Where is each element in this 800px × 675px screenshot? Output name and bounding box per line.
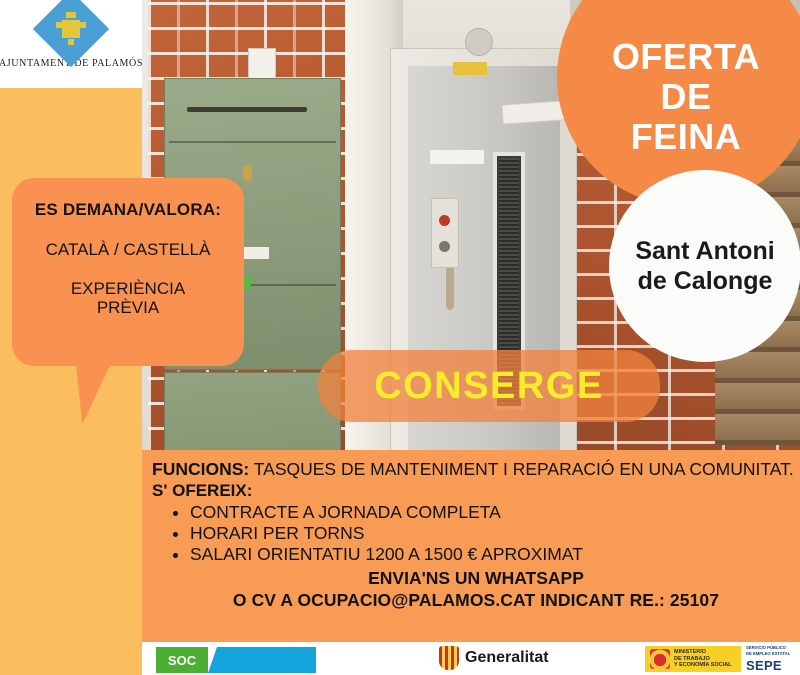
offer-bullet-list: CONTRACTE A JORNADA COMPLETA HORARI PER … [152,502,800,565]
soc-logo-banner [208,647,316,673]
town-line-1: Sant Antoni [635,236,774,266]
sepe-logo-text: SEPE [746,658,800,673]
soc-logo-text: SOC [156,647,208,673]
photo-mailboxes-lower [164,372,341,460]
town-line-2: de Calonge [635,266,774,296]
ministerio-logo: MINISTERIO DE TRABAJO Y ECONOMÍA SOCIAL [645,646,741,672]
job-title-banner: CONSERGE [318,350,660,422]
cta-email-reference: O CV A OCUPACIO@PALAMOS.CAT INDICANT RE.… [152,590,800,611]
list-item: SALARI ORIENTATIU 1200 A 1500 € APROXIMA… [190,544,800,565]
requirements-languages: CATALÀ / CASTELLÀ [12,240,244,259]
funcions-label: FUNCIONS: [152,459,249,479]
spain-coat-of-arms-icon [650,649,670,669]
photo-door-sign [430,150,484,164]
town-badge: Sant Antoni de Calonge [609,170,800,362]
ministerio-line-1: MINISTERIO [674,649,731,656]
photo-ceiling-fixture [465,28,493,56]
generalitat-logo: Generalitat [439,646,549,670]
oferta-line-2: DE [612,77,760,117]
photo-call-button-panel [431,198,459,268]
photo-door-handle [446,266,454,310]
funcions-text: TASQUES DE MANTENIMENT I REPARACIÓ EN UN… [249,459,794,479]
photo-yellow-tag [453,62,487,75]
oferta-line-3: FEINA [612,117,760,157]
requirements-title: ES DEMANA/VALORA: [12,200,244,220]
photo-light-switch [248,48,276,80]
generalitat-shield-icon [439,646,459,670]
job-details-block: FUNCIONS: TASQUES DE MANTENIMENT I REPAR… [142,450,800,642]
ofereix-label: S' OFEREIX: [152,481,800,501]
ajuntament-logo: AJUNTAMENT DE PALAMÓS [0,0,142,88]
generalitat-logo-text: Generalitat [465,649,549,667]
oferta-line-1: OFERTA [612,37,760,77]
requirements-speech-bubble: ES DEMANA/VALORA: CATALÀ / CASTELLÀ EXPE… [12,178,244,366]
requirements-experience-2: PRÈVIA [97,298,159,317]
job-offer-poster: AJUNTAMENT DE PALAMÓS OFERTA DE FEINA Sa… [0,0,800,675]
sponsor-logo-bar: SOC Generalitat MINISTERIO DE TRABAJO Y … [142,642,800,675]
list-item: HORARI PER TORNS [190,523,800,544]
sepe-logo: SERVICIO PÚBLICO DE EMPLEO ESTATAL SEPE [746,646,800,672]
list-item: CONTRACTE A JORNADA COMPLETA [190,502,800,523]
soc-logo: SOC [156,647,316,673]
ministerio-line-3: Y ECONOMÍA SOCIAL [674,662,731,669]
sepe-subtitle-2: DE EMPLEO ESTATAL [746,651,800,656]
job-title: CONSERGE [374,365,603,408]
cta-whatsapp: ENVIA'NS UN WHATSAPP [152,568,800,589]
requirements-experience-1: EXPERIÈNCIA [71,279,185,298]
